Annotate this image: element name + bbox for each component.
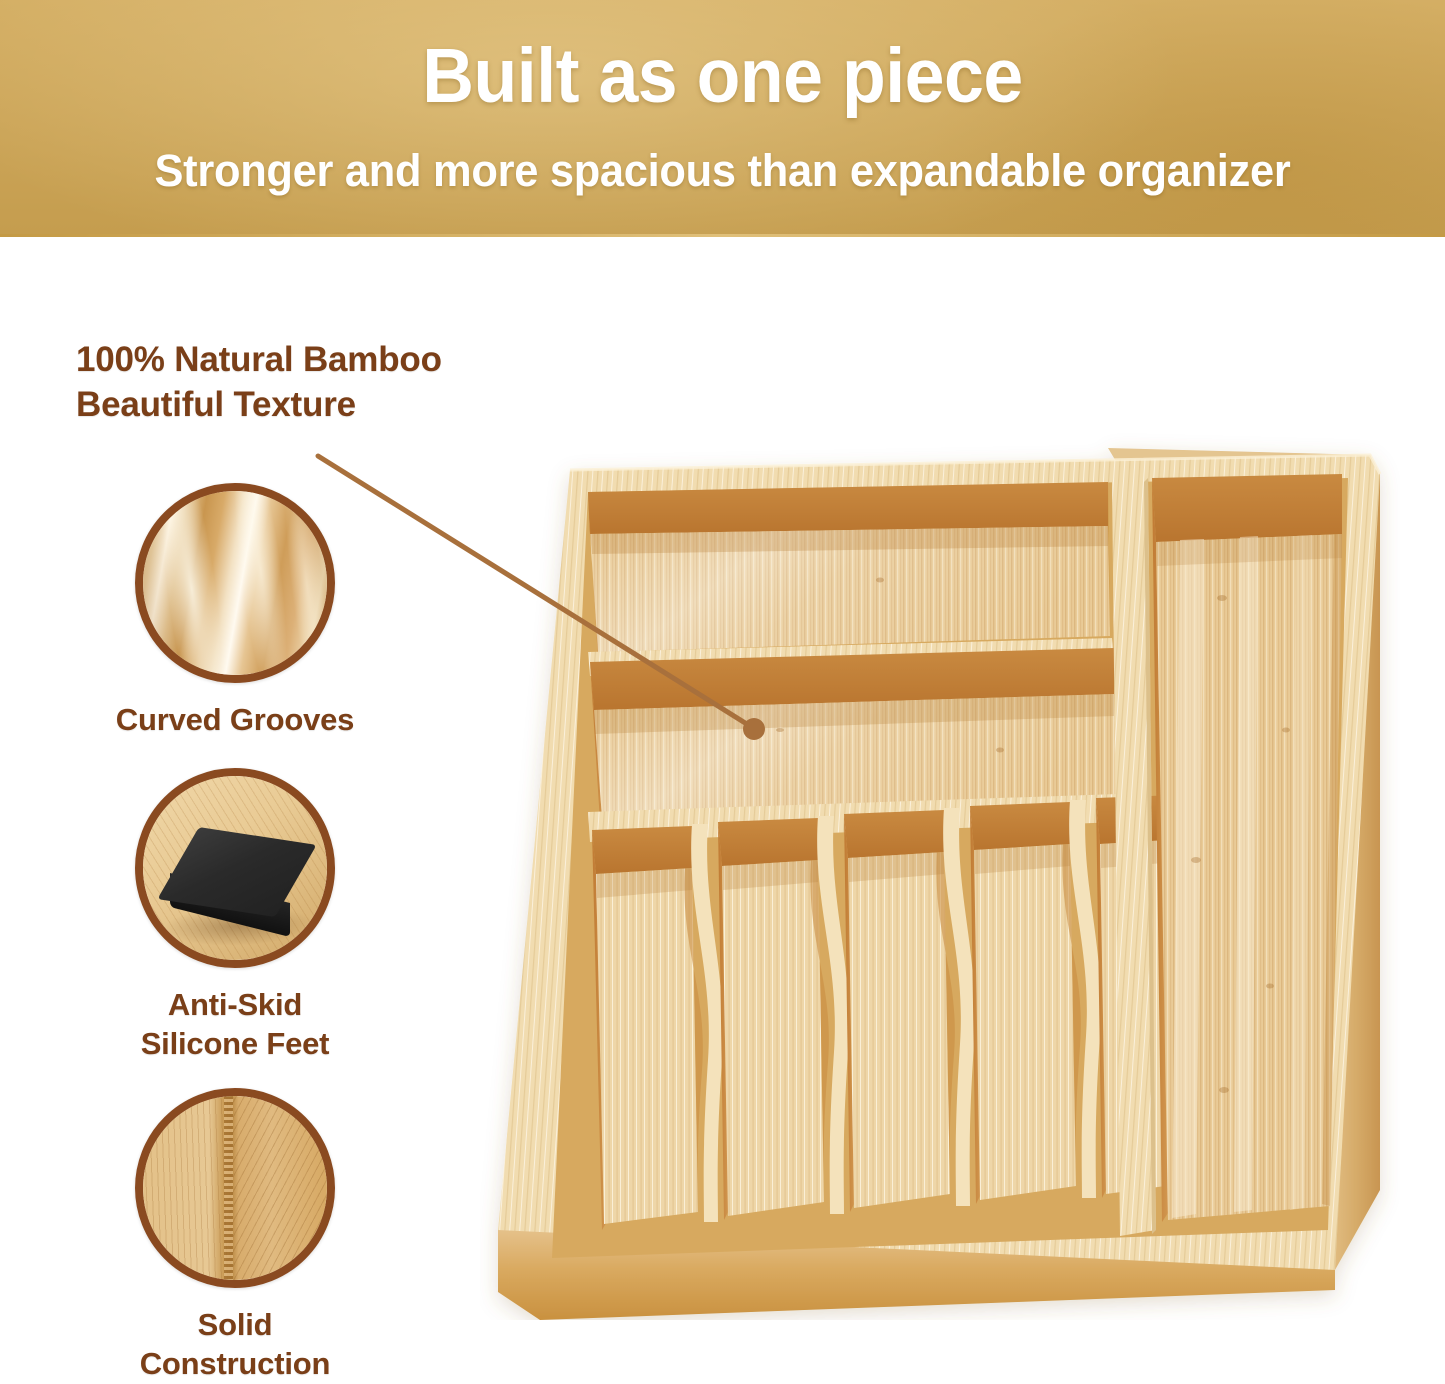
headline-line-2: Beautiful Texture	[76, 383, 596, 428]
header-banner: Built as one piece Stronger and more spa…	[0, 0, 1445, 237]
feature-label-line-1: Solid	[60, 1306, 410, 1345]
page-headline: 100% Natural Bamboo Beautiful Texture	[76, 338, 596, 428]
cutlery-slot-3	[844, 810, 955, 1212]
feature-curved-grooves: Curved Grooves	[60, 483, 410, 740]
silicone-foot-icon	[135, 768, 335, 968]
curved-groove-icon	[135, 483, 335, 683]
feature-anti-skid-feet: Anti-Skid Silicone Feet	[60, 768, 410, 1064]
cutlery-slot-4	[970, 802, 1081, 1204]
banner-bottom-edge	[0, 234, 1445, 237]
feature-label-line-2: Silicone Feet	[60, 1025, 410, 1064]
bamboo-organizer-illustration	[480, 430, 1400, 1320]
feature-label-line-1: Anti-Skid	[60, 986, 410, 1025]
feature-label-line-2: Construction	[60, 1345, 410, 1384]
compartment-right-tall	[1152, 474, 1342, 1222]
banner-title: Built as one piece	[51, 38, 1395, 115]
feature-label-curved-grooves: Curved Grooves	[60, 701, 410, 740]
feature-label-anti-skid-feet: Anti-Skid Silicone Feet	[60, 986, 410, 1064]
headline-line-1: 100% Natural Bamboo	[76, 338, 596, 383]
bamboo-joint-texture	[143, 1096, 327, 1280]
bamboo-groove-texture	[143, 491, 327, 675]
cutlery-slot-1	[592, 826, 703, 1230]
banner-subtitle: Stronger and more spacious than expandab…	[25, 148, 1419, 193]
compartment-top-left	[588, 482, 1110, 660]
product-image	[480, 430, 1400, 1320]
compartment-mid-left	[590, 648, 1116, 822]
corner-joint-icon	[135, 1088, 335, 1288]
feature-label-solid-construction: Solid Construction	[60, 1306, 410, 1384]
cutlery-slot-2	[718, 818, 829, 1220]
joint-seam	[224, 1096, 233, 1280]
feature-solid-construction: Solid Construction	[60, 1088, 410, 1384]
